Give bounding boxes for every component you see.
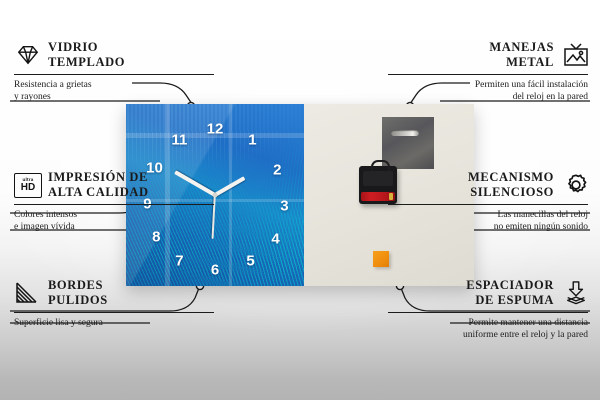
hanger-keyhole-slot	[391, 130, 419, 136]
foam-spacer	[373, 251, 389, 267]
clock-numeral-1: 1	[248, 133, 256, 148]
clock-numeral-11: 11	[171, 133, 187, 148]
diamond-icon	[14, 43, 40, 67]
clock-numeral-3: 3	[280, 198, 288, 213]
feature-divider	[388, 312, 588, 313]
clock-numeral-5: 5	[246, 253, 254, 268]
feature-title-line1: MECANISMO	[468, 170, 554, 184]
feature-title-line1: VIDRIO	[48, 40, 98, 54]
feature-title-line2: SILENCIOSO	[470, 185, 554, 199]
feature-subtitle-line1: Colores intensos	[14, 210, 77, 220]
feature-subtitle-line2: e imagen vívida	[14, 222, 75, 232]
ultra-hd-icon: ultra HD	[14, 173, 40, 197]
feature-manejas-metal: MANEJAS METAL Permiten una fácil instala…	[388, 40, 588, 103]
feature-divider	[388, 204, 588, 205]
feature-subtitle-line2: no emiten ningún sonido	[494, 222, 588, 232]
feature-title-line1: ESPACIADOR	[466, 278, 554, 292]
feature-divider	[14, 204, 214, 205]
feature-divider	[14, 74, 214, 75]
feature-title-line2: METAL	[506, 55, 554, 69]
feature-divider	[14, 312, 214, 313]
picture-hanger-icon	[562, 43, 588, 67]
feature-divider	[388, 74, 588, 75]
feature-title-line1: MANEJAS	[489, 40, 554, 54]
feature-title-line2: PULIDOS	[48, 293, 108, 307]
feature-vidrio-templado: VIDRIO TEMPLADO Resistencia a grietas y …	[14, 40, 214, 103]
feature-subtitle-line2: y rayones	[14, 92, 51, 102]
clock-numeral-2: 2	[273, 162, 281, 177]
feature-espaciador-espuma: ESPACIADOR DE ESPUMA Permite mantener un…	[388, 278, 588, 341]
ultra-hd-label-main: HD	[21, 183, 35, 193]
feature-subtitle-line1: Permite mantener una distancia	[469, 318, 589, 328]
gear-icon	[562, 173, 588, 197]
feature-title-line1: IMPRESIÓN DE	[48, 170, 148, 184]
metal-hanger-plate	[382, 117, 434, 169]
clock-numeral-12: 12	[207, 122, 224, 137]
foam-spacer-icon	[562, 281, 588, 305]
feature-subtitle-line2: del reloj en la pared	[513, 92, 588, 102]
feature-title-line2: TEMPLADO	[48, 55, 125, 69]
infographic-canvas: 12 1 2 3 4 5 6 7 8 9 10 11	[0, 0, 600, 400]
clock-numeral-6: 6	[211, 262, 219, 277]
feature-impresion-alta-calidad: ultra HD IMPRESIÓN DE ALTA CALIDAD Color…	[14, 170, 214, 233]
polished-edge-icon	[14, 281, 40, 305]
feature-mecanismo-silencioso: MECANISMO SILENCIOSO Las manecillas del …	[388, 170, 588, 233]
clock-numeral-7: 7	[175, 253, 183, 268]
feature-bordes-pulidos: BORDES PULIDOS Superficie lisa y segura	[14, 278, 214, 329]
feature-title-line1: BORDES	[48, 278, 103, 292]
feature-subtitle-line1: Las manecillas del reloj	[498, 210, 588, 220]
feature-title-line2: DE ESPUMA	[475, 293, 554, 307]
feature-subtitle-line1: Permiten una fácil instalación	[475, 80, 588, 90]
feature-subtitle-line2: uniforme entre el reloj y la pared	[463, 330, 588, 340]
feature-subtitle-line1: Superficie lisa y segura	[14, 318, 103, 328]
feature-subtitle-line1: Resistencia a grietas	[14, 80, 92, 90]
feature-title-line2: ALTA CALIDAD	[48, 185, 149, 199]
clock-numeral-4: 4	[271, 231, 279, 246]
